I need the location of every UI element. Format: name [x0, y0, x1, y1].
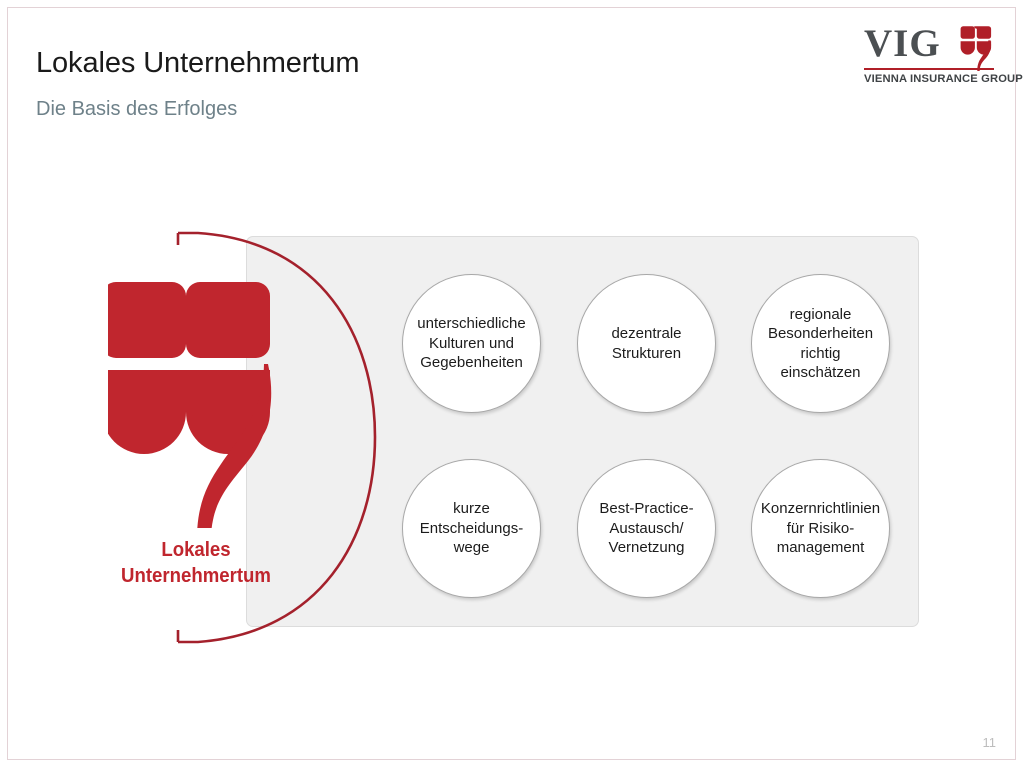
- diagram-bubble[interactable]: kurze Entscheidungs- wege: [402, 459, 541, 598]
- diagram-bubble-label: kurze Entscheidungs- wege: [416, 499, 527, 558]
- page-title: Lokales Unternehmertum: [36, 47, 359, 80]
- logo-wordmark: VIG: [864, 24, 941, 64]
- vig-logo: VIG VIENNA INSURANCE GROUP: [862, 24, 1000, 92]
- diagram-bubble-label: Konzernrichtlinien für Risiko- managemen…: [757, 499, 884, 558]
- logo-divider-rule: [864, 68, 994, 70]
- brandmark-label: Lokales Unternehmertum: [103, 537, 289, 589]
- vig-shield-swoosh-icon: [960, 25, 994, 71]
- diagram-bubble-label: unterschiedliche Kulturen und Gegebenhei…: [413, 314, 529, 373]
- slide-canvas: Lokales Unternehmertum Die Basis des Erf…: [0, 0, 1024, 768]
- diagram-bubble[interactable]: regionale Besonderheiten richtig einschä…: [751, 274, 890, 413]
- vig-shield-swoosh-large-icon: [108, 278, 298, 528]
- page-subtitle: Die Basis des Erfolges: [36, 98, 237, 121]
- diagram-bubble[interactable]: Konzernrichtlinien für Risiko- managemen…: [751, 459, 890, 598]
- diagram-bubble[interactable]: dezentrale Strukturen: [577, 274, 716, 413]
- diagram-bubble[interactable]: unterschiedliche Kulturen und Gegebenhei…: [402, 274, 541, 413]
- diagram-bubble[interactable]: Best-Practice- Austausch/ Vernetzung: [577, 459, 716, 598]
- page-number: 11: [983, 735, 997, 750]
- diagram-bubble-label: regionale Besonderheiten richtig einschä…: [764, 305, 877, 383]
- diagram-bubble-label: dezentrale Strukturen: [607, 324, 685, 363]
- logo-tagline: VIENNA INSURANCE GROUP: [864, 73, 1023, 85]
- diagram-bubble-label: Best-Practice- Austausch/ Vernetzung: [595, 499, 697, 558]
